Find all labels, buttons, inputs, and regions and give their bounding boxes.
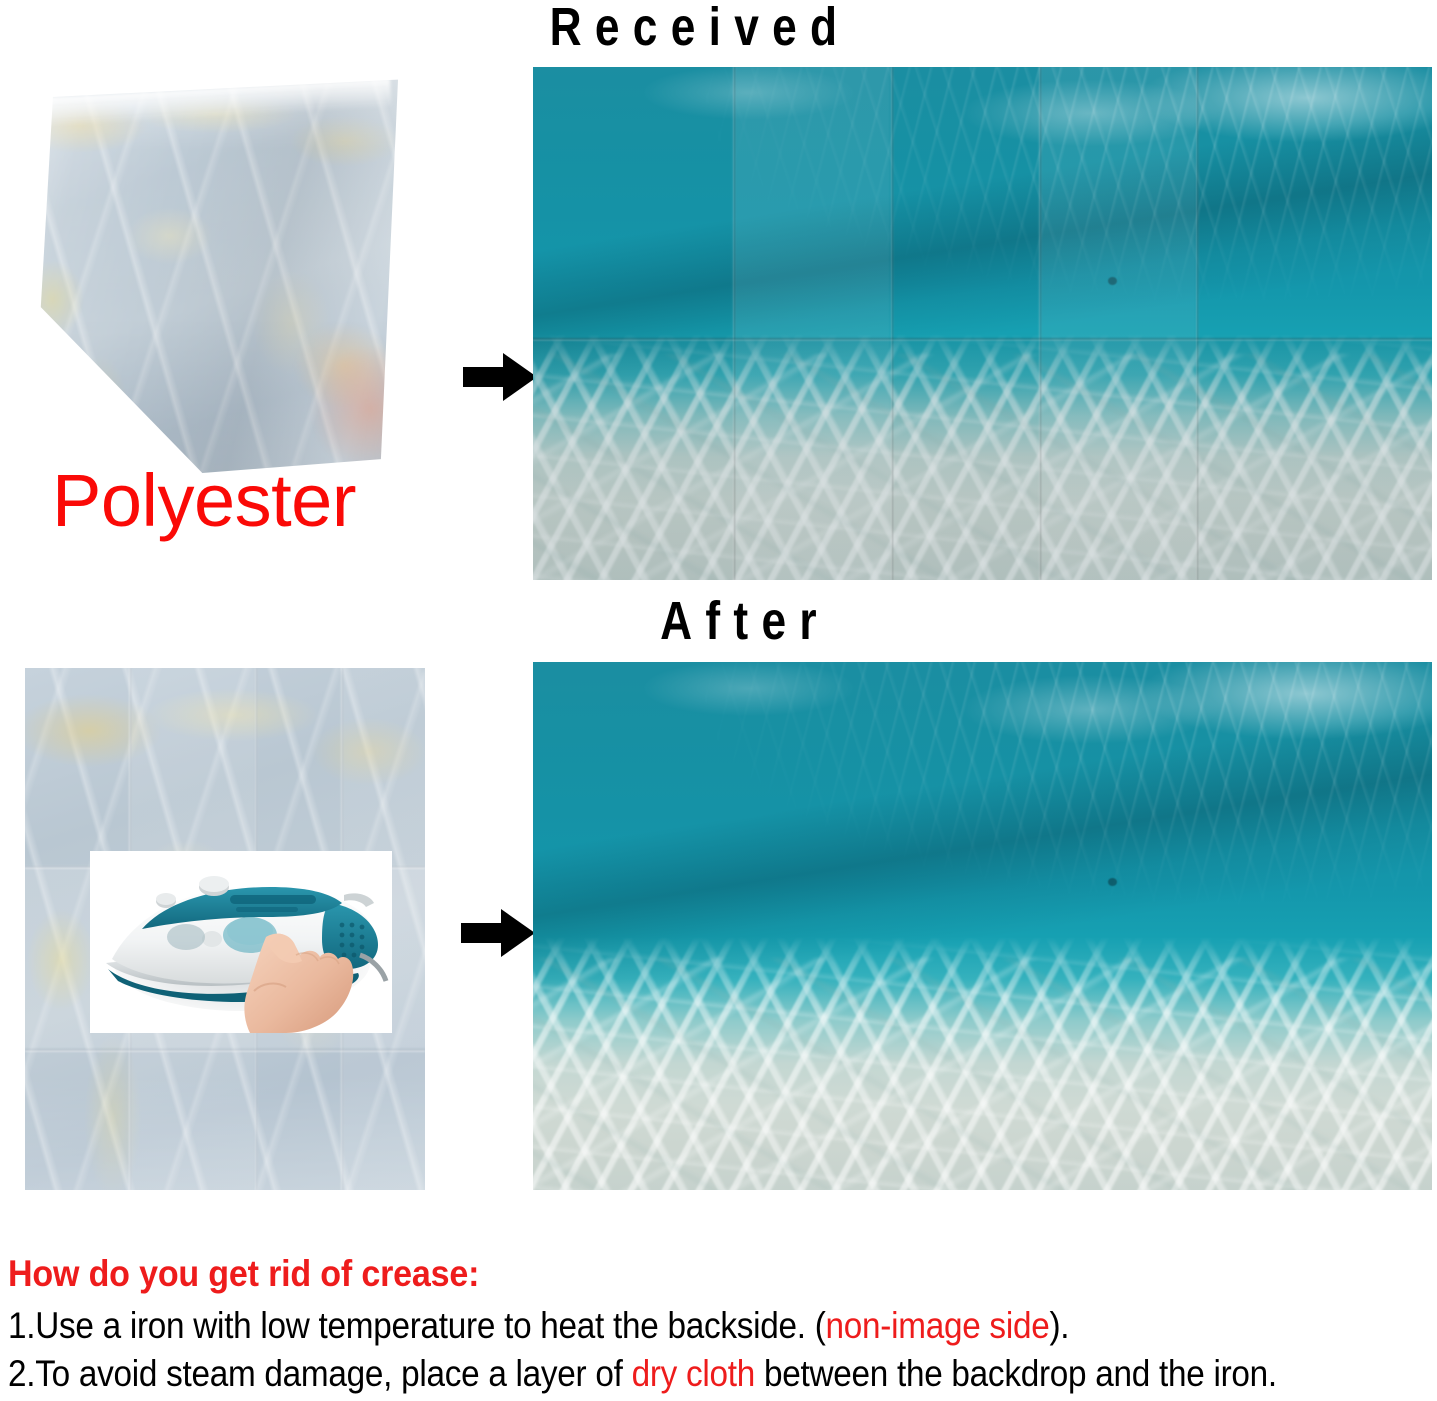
underwater-scene [533, 67, 1432, 580]
water-ripples [533, 67, 1432, 354]
care-step-2-highlight: dry cloth [632, 1353, 755, 1394]
right-arrow-icon [461, 907, 535, 959]
care-step-1-text-a: 1.Use a iron with low temperature to hea… [8, 1305, 826, 1346]
care-instructions: How do you get rid of crease: 1.Use a ir… [8, 1252, 1433, 1397]
care-heading: How do you get rid of crease: [8, 1252, 1319, 1296]
water-ripples [533, 662, 1432, 958]
steam-iron-photo [90, 851, 392, 1033]
sand-caustics-secondary [533, 958, 1432, 1190]
care-step-1-text-b: ). [1049, 1305, 1069, 1346]
care-step-2: 2.To avoid steam damage, place a layer o… [8, 1351, 1291, 1397]
fabric-warm-vein [269, 299, 398, 465]
material-label: Polyester [52, 462, 356, 540]
underwater-scene [533, 662, 1432, 1190]
care-step-2-text-a: 2.To avoid steam damage, place a layer o… [8, 1353, 632, 1394]
sand-caustics-secondary [533, 354, 1432, 580]
received-backdrop-photo [533, 67, 1432, 580]
infographic-canvas: Received Polyester After [0, 0, 1437, 1401]
after-heading: After [589, 592, 901, 650]
care-step-2-text-b: between the backdrop and the iron. [755, 1353, 1277, 1394]
right-arrow-icon [463, 351, 537, 403]
rolled-fabric-photo [18, 78, 398, 473]
care-step-1: 1.Use a iron with low temperature to hea… [8, 1303, 1291, 1349]
received-heading: Received [487, 0, 913, 56]
after-backdrop-photo [533, 662, 1432, 1190]
care-step-1-highlight: non-image side [826, 1305, 1050, 1346]
